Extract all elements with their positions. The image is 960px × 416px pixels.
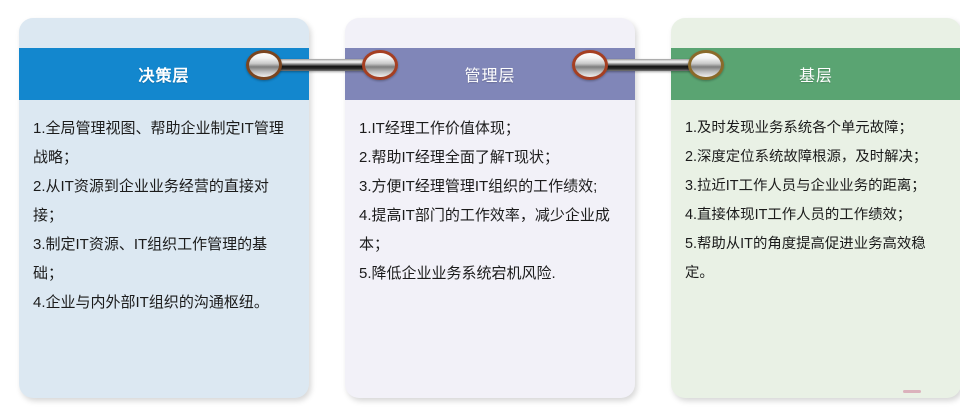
card-management-header: 管理层 (345, 48, 635, 100)
list-item: 4.直接体现IT工作人员的工作绩效； (685, 201, 947, 230)
list-item: 1.全局管理视图、帮助企业制定IT管理战略； (33, 114, 295, 172)
decoration-mark (903, 390, 921, 393)
card-management[interactable]: 管理层 1.IT经理工作价值体现； 2.帮助IT经理全面了解T现状； 3.方便I… (345, 18, 635, 398)
card-operations[interactable]: 基层 1.及时发现业务系统各个单元故障； 2.深度定位系统故障根源，及时解决； … (671, 18, 960, 398)
list-item: 2.帮助IT经理全面了解T现状； (359, 143, 621, 172)
list-item: 4.提高IT部门的工作效率，减少企业成本； (359, 201, 621, 259)
card-decision-list: 1.全局管理视图、帮助企业制定IT管理战略； 2.从IT资源到企业业务经营的直接… (33, 114, 295, 317)
list-item: 3.方便IT经理管理IT组织的工作绩效; (359, 172, 621, 201)
card-management-title: 管理层 (464, 62, 515, 86)
list-item: 3.拉近IT工作人员与企业业务的距离； (685, 172, 947, 201)
card-decision[interactable]: 决策层 1.全局管理视图、帮助企业制定IT管理战略； 2.从IT资源到企业业务经… (19, 18, 309, 398)
list-item: 2.深度定位系统故障根源，及时解决； (685, 143, 947, 172)
list-item: 5.帮助从IT的角度提高促进业务高效稳定。 (685, 230, 947, 288)
card-operations-body: 1.及时发现业务系统各个单元故障； 2.深度定位系统故障根源，及时解决； 3.拉… (671, 100, 960, 398)
diagram-canvas: 决策层 1.全局管理视图、帮助企业制定IT管理战略； 2.从IT资源到企业业务经… (0, 0, 960, 416)
card-management-body: 1.IT经理工作价值体现； 2.帮助IT经理全面了解T现状； 3.方便IT经理管… (345, 100, 635, 398)
list-item: 5.降低企业业务系统宕机风险. (359, 259, 621, 288)
card-operations-list: 1.及时发现业务系统各个单元故障； 2.深度定位系统故障根源，及时解决； 3.拉… (685, 114, 947, 288)
card-management-list: 1.IT经理工作价值体现； 2.帮助IT经理全面了解T现状； 3.方便IT经理管… (359, 114, 621, 288)
card-decision-title: 决策层 (138, 62, 189, 86)
list-item: 3.制定IT资源、IT组织工作管理的基础； (33, 230, 295, 288)
list-item: 1.IT经理工作价值体现； (359, 114, 621, 143)
list-item: 4.企业与内外部IT组织的沟通枢纽。 (33, 288, 295, 317)
card-operations-header: 基层 (671, 48, 960, 100)
card-decision-body: 1.全局管理视图、帮助企业制定IT管理战略； 2.从IT资源到企业业务经营的直接… (19, 100, 309, 398)
list-item: 2.从IT资源到企业业务经营的直接对接； (33, 172, 295, 230)
card-decision-header: 决策层 (19, 48, 309, 100)
list-item: 1.及时发现业务系统各个单元故障； (685, 114, 947, 143)
card-operations-title: 基层 (799, 62, 833, 86)
